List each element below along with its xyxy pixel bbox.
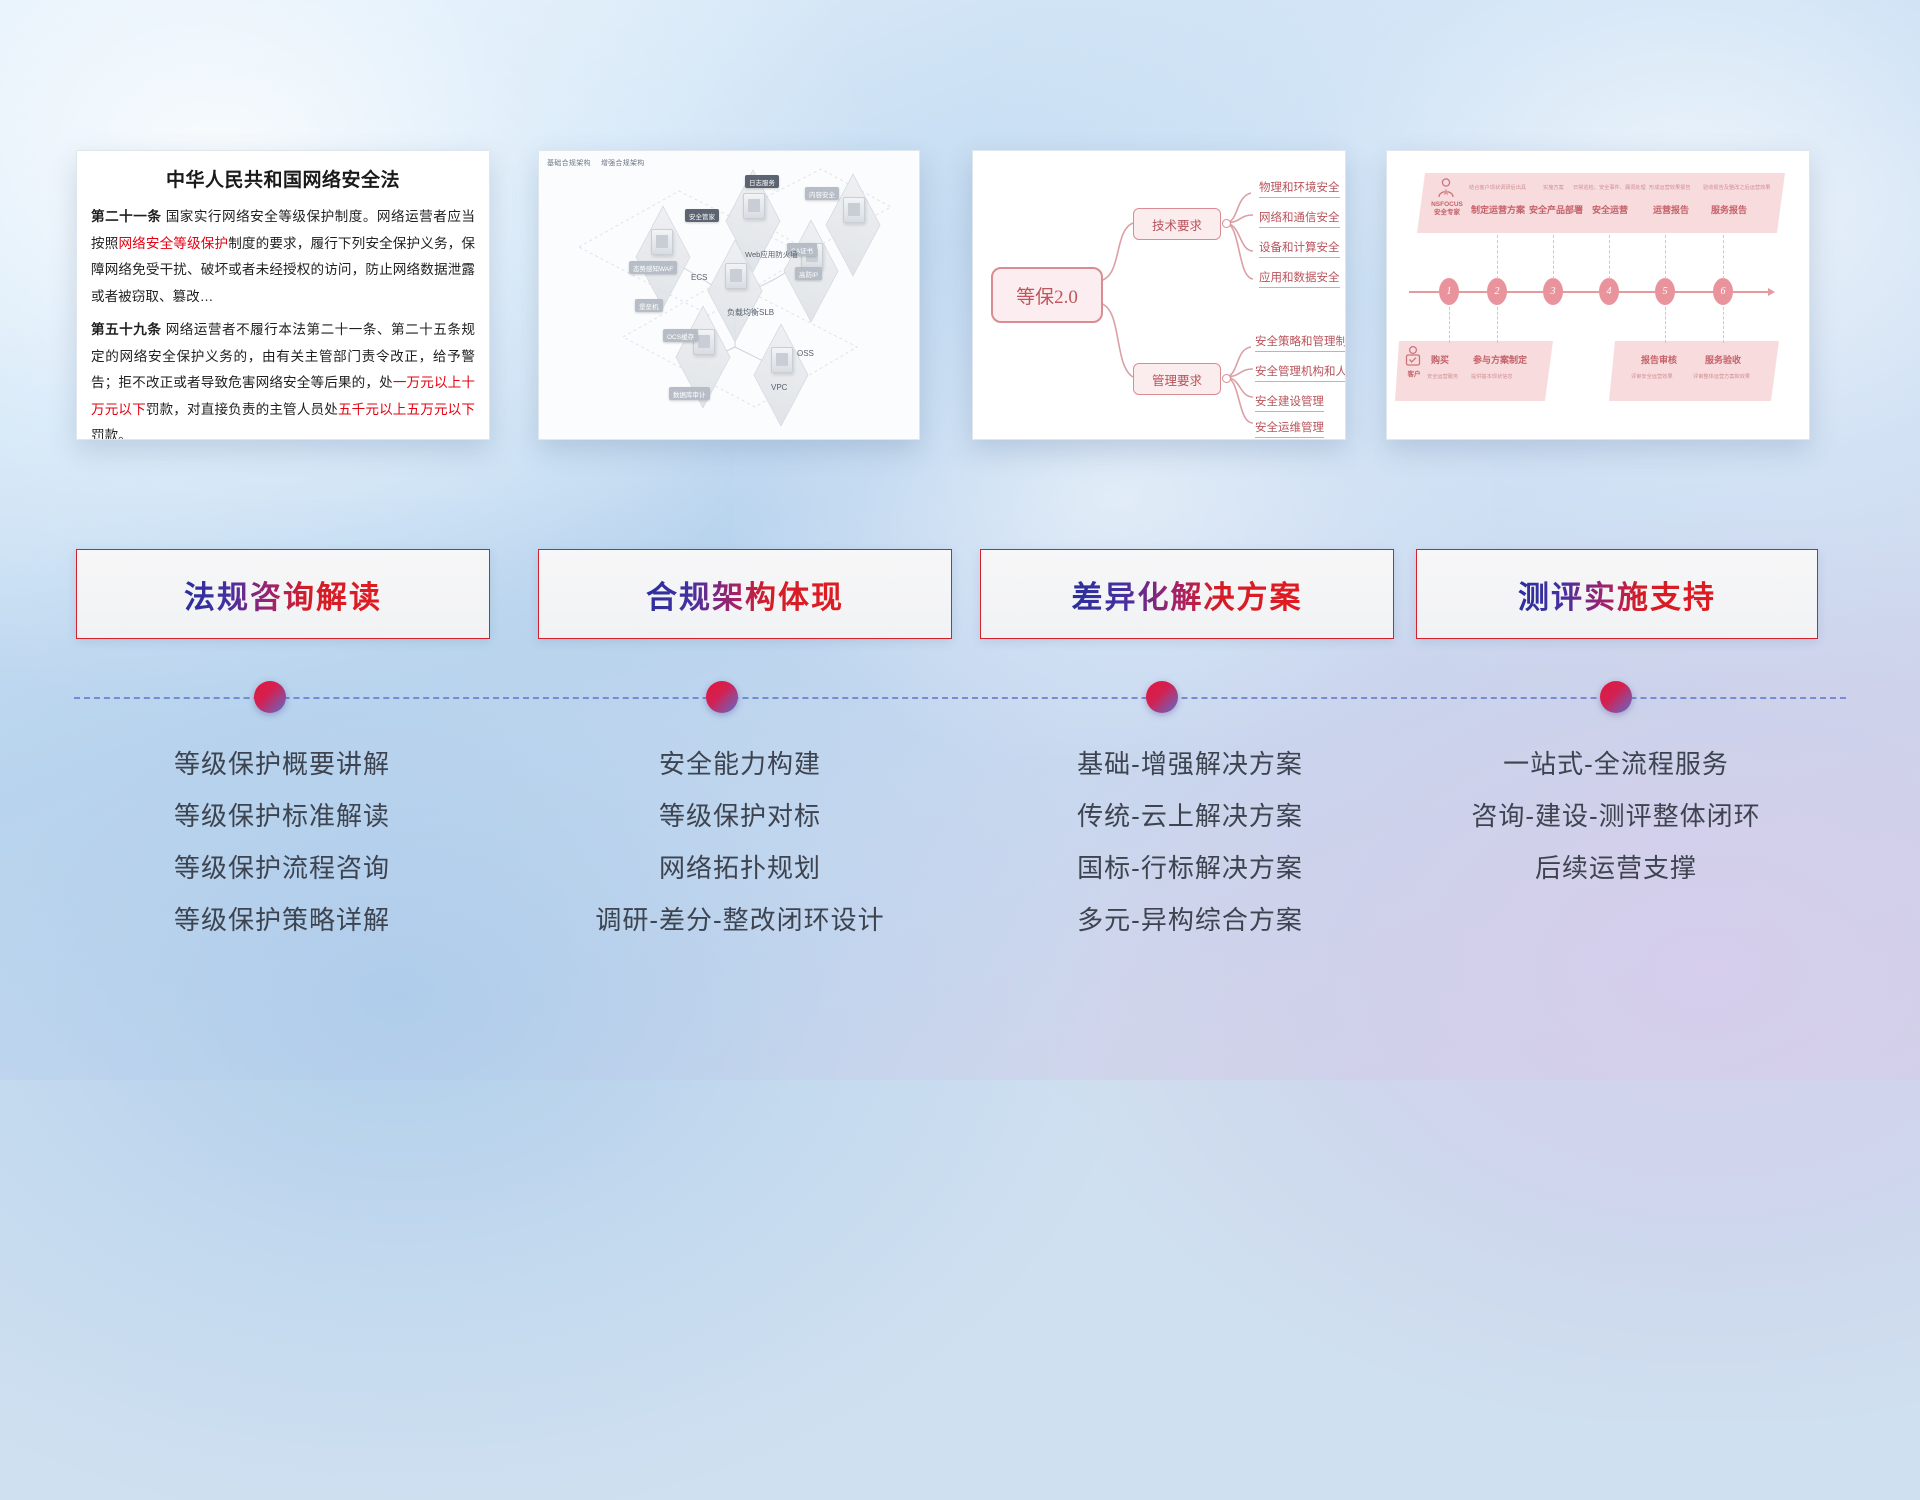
detail-list-row: 等级保护概要讲解 等级保护标准解读 等级保护流程咨询 等级保护策略详解 安全能力… bbox=[0, 738, 1920, 1018]
architecture-node-label: Web应用防火墙 bbox=[745, 249, 798, 260]
list-item: 安全能力构建 bbox=[530, 738, 950, 790]
roadmap-connector bbox=[1665, 307, 1666, 343]
law-paragraph: 第五十九条 网络运营者不履行本法第二十一条、第二十五条规定的网络安全保护义务的，… bbox=[91, 317, 475, 440]
roadmap-step-node: 4 bbox=[1599, 278, 1619, 305]
heading-box-regulation-consulting[interactable]: 法规咨询解读 bbox=[76, 549, 490, 639]
roadmap-step-node: 3 bbox=[1543, 278, 1563, 305]
roadmap-step-sub: 结合客户现状调研后出具 bbox=[1469, 184, 1526, 191]
list-item: 等级保护标准解读 bbox=[76, 790, 488, 842]
roadmap-connector bbox=[1553, 235, 1554, 279]
law-run-highlight: 五千元以上五万元以下 bbox=[338, 402, 475, 417]
mindmap-branch-technical: 技术要求 bbox=[1133, 208, 1221, 240]
timeline bbox=[0, 694, 1920, 704]
timeline-dot[interactable] bbox=[1146, 681, 1178, 713]
roadmap-step-sub: 验收报告及整改之后运营效果 bbox=[1703, 184, 1770, 191]
roadmap-diagram: NSFOCUS安全专家 客户 1 2 3 4 5 6 bbox=[1387, 151, 1809, 439]
architecture-node-tag: 日志服务 bbox=[745, 175, 779, 188]
law-card-body: 第二十一条 国家实行网络安全等级保护制度。网络运营者应当按照网络安全等级保护制度… bbox=[77, 204, 489, 440]
roadmap-step-node: 1 bbox=[1439, 278, 1459, 305]
mindmap-leaf: 设备和计算安全 bbox=[1259, 239, 1340, 258]
customer-icon bbox=[1403, 345, 1423, 369]
expert-icon bbox=[1435, 177, 1457, 199]
list-item: 多元-异构综合方案 bbox=[980, 894, 1400, 946]
mindmap-leaf: 安全建设管理 bbox=[1255, 393, 1324, 412]
roadmap-step-title: 安全运营 bbox=[1592, 203, 1628, 216]
detail-column-assessment-support: 一站式-全流程服务 咨询-建设-测评整体闭环 后续运营支撑 bbox=[1410, 738, 1822, 894]
architecture-node-tag: 高防IP bbox=[795, 267, 822, 280]
heading-row: 法规咨询解读 合规架构体现 差异化解决方案 测评实施支持 bbox=[0, 549, 1920, 641]
architecture-node-icon bbox=[843, 197, 865, 223]
roadmap-step-title: 安全产品部署 bbox=[1529, 203, 1583, 216]
roadmap-bottom-title: 服务验收 bbox=[1705, 353, 1741, 366]
architecture-node-tag: 内容安全 bbox=[805, 187, 839, 200]
roadmap-step-title: 服务报告 bbox=[1711, 203, 1747, 216]
roadmap-step-sub: 日常巡检、安全事件、漏洞处理 bbox=[1573, 184, 1646, 191]
law-article-label: 第五十九条 bbox=[91, 322, 161, 337]
list-item: 传统-云上解决方案 bbox=[980, 790, 1400, 842]
architecture-node-icon bbox=[651, 229, 673, 255]
roadmap-connector bbox=[1723, 307, 1724, 343]
mindmap-diagram: 等保2.0 技术要求 物理和环境安全 网络和通信安全 设备和计算安全 应用和数据… bbox=[973, 151, 1345, 439]
timeline-dashed-line bbox=[74, 697, 1846, 699]
roadmap-connector bbox=[1665, 235, 1666, 279]
roadmap-band-customer-right bbox=[1609, 341, 1779, 401]
roadmap-bottom-sub: 安全运营服务 bbox=[1427, 373, 1458, 380]
detail-column-differentiated-solution: 基础-增强解决方案 传统-云上解决方案 国标-行标解决方案 多元-异构综合方案 bbox=[980, 738, 1400, 946]
heading-label: 法规咨询解读 bbox=[184, 572, 382, 617]
architecture-node-label: 负载均衡SLB bbox=[727, 307, 774, 318]
roadmap-connector bbox=[1497, 307, 1498, 343]
roadmap-bottom-title: 参与方案制定 bbox=[1473, 353, 1527, 366]
architecture-node-icon bbox=[743, 193, 765, 219]
architecture-node-tag: 态势感知WAF bbox=[629, 261, 677, 274]
roadmap-bottom-title: 报告审核 bbox=[1641, 353, 1677, 366]
roadmap-step-node: 5 bbox=[1655, 278, 1675, 305]
architecture-node-tag: 堡垒机 bbox=[635, 299, 663, 312]
list-item: 基础-增强解决方案 bbox=[980, 738, 1400, 790]
list-item: 等级保护概要讲解 bbox=[76, 738, 488, 790]
architecture-node-label: OSS bbox=[797, 349, 814, 358]
list-item: 网络拓扑规划 bbox=[530, 842, 950, 894]
mindmap-collapse-icon bbox=[1222, 219, 1231, 228]
architecture-node-label: VPC bbox=[771, 383, 787, 392]
mindmap-leaf: 安全策略和管理制度 bbox=[1255, 333, 1346, 352]
mindmap-card: 等保2.0 技术要求 物理和环境安全 网络和通信安全 设备和计算安全 应用和数据… bbox=[972, 150, 1346, 440]
roadmap-actor-provider: NSFOCUS安全专家 bbox=[1417, 201, 1477, 217]
detail-column-regulation-consulting: 等级保护概要讲解 等级保护标准解读 等级保护流程咨询 等级保护策略详解 bbox=[76, 738, 488, 946]
mindmap-leaf: 安全运维管理 bbox=[1255, 419, 1324, 438]
timeline-dot[interactable] bbox=[254, 681, 286, 713]
timeline-dot[interactable] bbox=[706, 681, 738, 713]
architecture-card: 基础合规架构增强合规架构 bbox=[538, 150, 920, 440]
architecture-node-icon bbox=[725, 263, 747, 289]
roadmap-step-node: 2 bbox=[1487, 278, 1507, 305]
roadmap-bottom-sub: 评审安全运营效果 bbox=[1631, 373, 1673, 380]
mindmap-root-node: 等保2.0 bbox=[991, 267, 1103, 323]
law-card-title: 中华人民共和国网络安全法 bbox=[77, 165, 489, 192]
roadmap-step-title: 制定运营方案 bbox=[1471, 203, 1525, 216]
list-item: 咨询-建设-测评整体闭环 bbox=[1410, 790, 1822, 842]
roadmap-connector bbox=[1609, 235, 1610, 279]
heading-label: 合规架构体现 bbox=[646, 572, 844, 617]
roadmap-step-title: 运营报告 bbox=[1653, 203, 1689, 216]
roadmap-connector bbox=[1497, 235, 1498, 279]
roadmap-actor-customer: 客户 bbox=[1397, 371, 1431, 379]
architecture-node-tag: OCS缓存 bbox=[663, 329, 698, 342]
list-item: 国标-行标解决方案 bbox=[980, 842, 1400, 894]
list-item: 等级保护策略详解 bbox=[76, 894, 488, 946]
architecture-node-tag: 安全管家 bbox=[685, 209, 719, 222]
list-item: 后续运营支撑 bbox=[1410, 842, 1822, 894]
illustration-card-row: 中华人民共和国网络安全法 第二十一条 国家实行网络安全等级保护制度。网络运营者应… bbox=[0, 150, 1920, 450]
list-item: 一站式-全流程服务 bbox=[1410, 738, 1822, 790]
roadmap-step-node: 6 bbox=[1713, 278, 1733, 305]
mindmap-leaf: 网络和通信安全 bbox=[1259, 209, 1340, 228]
law-run: 罚款，对直接负责的主管人员处 bbox=[146, 402, 338, 417]
heading-label: 测评实施支持 bbox=[1518, 572, 1716, 617]
mindmap-leaf: 物理和环境安全 bbox=[1259, 179, 1340, 198]
architecture-node-tag: 数据库审计 bbox=[669, 387, 710, 400]
roadmap-bottom-title: 购买 bbox=[1431, 353, 1449, 366]
list-item: 等级保护对标 bbox=[530, 790, 950, 842]
roadmap-card: NSFOCUS安全专家 客户 1 2 3 4 5 6 bbox=[1386, 150, 1810, 440]
mindmap-leaf: 应用和数据安全 bbox=[1259, 269, 1340, 288]
roadmap-bottom-sub: 提供基本现状信息 bbox=[1471, 373, 1513, 380]
roadmap-connector bbox=[1723, 235, 1724, 279]
law-run: 罚款。 bbox=[91, 428, 132, 440]
list-item: 等级保护流程咨询 bbox=[76, 842, 488, 894]
mindmap-collapse-icon bbox=[1222, 374, 1231, 383]
mindmap-branch-management: 管理要求 bbox=[1133, 363, 1221, 395]
heading-box-assessment-support[interactable]: 测评实施支持 bbox=[1416, 549, 1818, 639]
law-card: 中华人民共和国网络安全法 第二十一条 国家实行网络安全等级保护制度。网络运营者应… bbox=[76, 150, 490, 440]
law-paragraph: 第二十一条 国家实行网络安全等级保护制度。网络运营者应当按照网络安全等级保护制度… bbox=[91, 204, 475, 310]
law-article-label: 第二十一条 bbox=[91, 209, 161, 224]
heading-box-compliance-architecture[interactable]: 合规架构体现 bbox=[538, 549, 952, 639]
list-item: 调研-差分-整改闭环设计 bbox=[530, 894, 950, 946]
timeline-dot[interactable] bbox=[1600, 681, 1632, 713]
roadmap-step-sub: 形成运营效果报告 bbox=[1649, 184, 1691, 191]
roadmap-bottom-sub: 评审整体运营方案和效果 bbox=[1693, 373, 1750, 380]
architecture-node-label: ECS bbox=[691, 273, 707, 282]
mindmap-leaf: 安全管理机构和人员 bbox=[1255, 363, 1346, 382]
heading-label: 差异化解决方案 bbox=[1072, 572, 1303, 617]
detail-column-compliance-architecture: 安全能力构建 等级保护对标 网络拓扑规划 调研-差分-整改闭环设计 bbox=[530, 738, 950, 946]
roadmap-connector bbox=[1449, 307, 1450, 343]
law-run-highlight: 网络安全等级保护 bbox=[118, 236, 228, 251]
heading-box-differentiated-solution[interactable]: 差异化解决方案 bbox=[980, 549, 1394, 639]
architecture-diagram: 基础合规架构增强合规架构 bbox=[539, 151, 919, 439]
roadmap-step-sub: 实施方案 bbox=[1543, 184, 1564, 191]
architecture-node-icon bbox=[771, 347, 793, 373]
